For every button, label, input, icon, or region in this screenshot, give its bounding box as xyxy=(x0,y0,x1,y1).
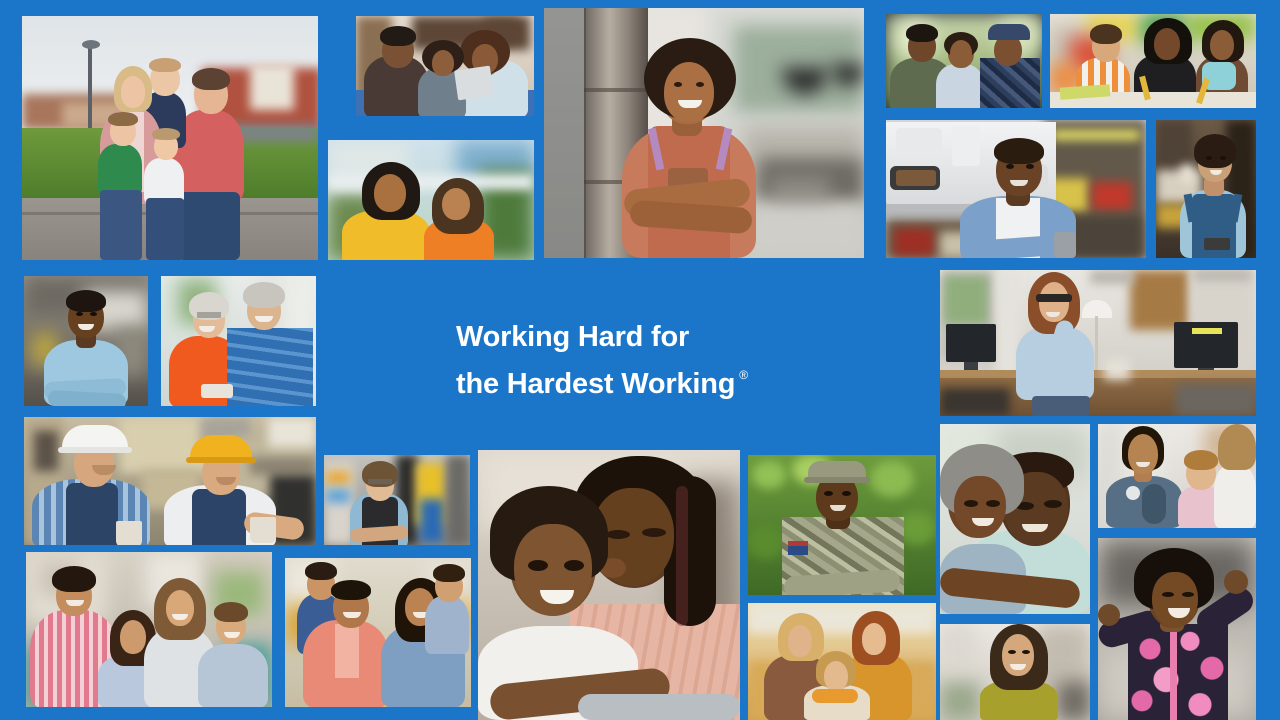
tile-woman-in-olive-top xyxy=(940,624,1090,720)
tile-worker-in-blue-overalls xyxy=(1156,120,1256,258)
tile-office-woman-at-desk xyxy=(940,270,1256,416)
tile-senior-couple-on-couch xyxy=(161,276,316,406)
tile-female-soldier-outdoors xyxy=(748,455,936,595)
tile-warehouse-worker-apron xyxy=(324,455,470,545)
tile-two-workers-hard-hats xyxy=(24,417,316,545)
tile-mother-and-daughter-in-yard xyxy=(328,140,534,260)
tagline: Working Hard for the Hardest Working® xyxy=(456,318,816,403)
tile-parents-with-two-toddlers xyxy=(285,558,471,707)
tile-family-of-five-outdoors xyxy=(22,16,318,260)
tile-couple-embracing xyxy=(940,424,1090,614)
tagline-line-1: Working Hard for xyxy=(456,318,816,356)
tagline-line-2-wrap: the Hardest Working® xyxy=(456,356,816,403)
tile-auto-mechanic-in-garage xyxy=(886,120,1146,258)
tile-family-with-tablet-on-sofa xyxy=(356,16,534,116)
tile-barista-in-apron xyxy=(544,8,864,258)
tile-man-in-light-blue-polo xyxy=(24,276,148,406)
photo-collage: Working Hard for the Hardest Working® xyxy=(0,0,1280,720)
tile-family-of-four-on-couch xyxy=(26,552,272,707)
tile-nurse-with-child xyxy=(1098,424,1256,528)
tile-woman-in-floral-jacket xyxy=(1098,538,1256,720)
tile-mother-kissing-daughter xyxy=(478,450,740,720)
tile-military-family-hug xyxy=(886,14,1042,108)
registered-trademark-icon: ® xyxy=(739,368,748,382)
tagline-line-2: the Hardest Working xyxy=(456,368,735,400)
tile-family-in-wheat-field xyxy=(748,603,936,720)
tile-classroom-tutoring xyxy=(1050,14,1256,108)
